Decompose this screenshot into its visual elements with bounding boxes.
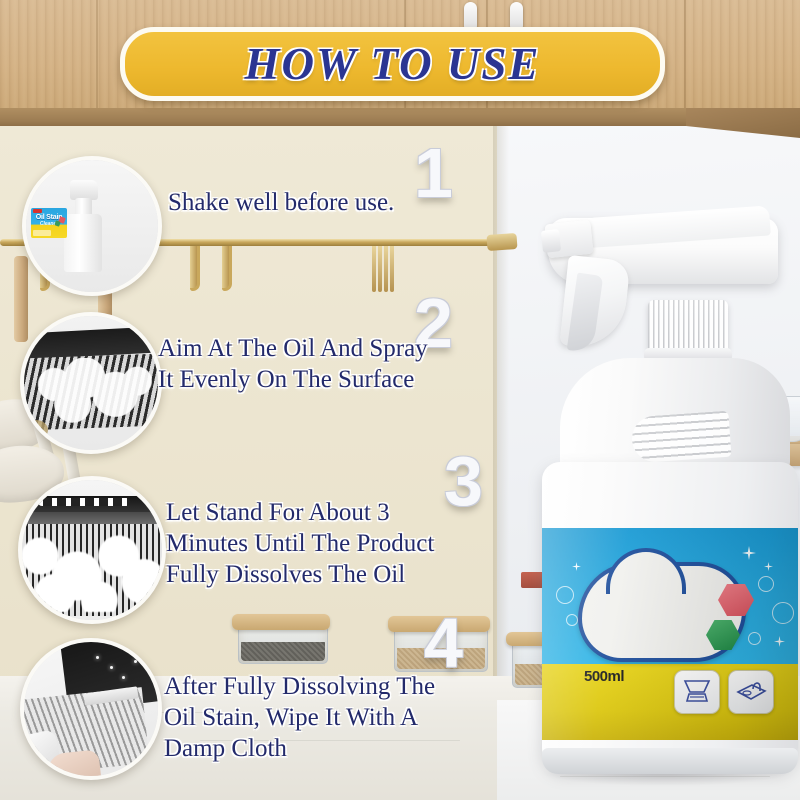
title-banner: HOW TO USE [120, 27, 665, 101]
nozzle-tip [541, 229, 561, 253]
step-number-4: 4 [424, 608, 463, 678]
step-thumbnail-wiping-with-damp-cloth [20, 638, 162, 780]
cabinet-seam [96, 0, 98, 122]
bamboo-lid [232, 614, 330, 630]
product-label: 500ml [542, 528, 798, 740]
cabinet-seam [684, 0, 686, 122]
step-thumbnail-foam-dissolving-oil [18, 476, 166, 624]
step-thumbnail-spray-bottle-on-counter: Oil Stain Cleaner [22, 156, 162, 296]
step-thumbnail-spraying-range-hood-filter [20, 312, 162, 454]
brass-rail-end-cap [486, 233, 517, 251]
step-text-3: Let Stand For About 3 Minutes Until The … [166, 498, 506, 590]
page-title: HOW TO USE [245, 38, 541, 90]
cabinet-bottom-edge [0, 108, 800, 126]
mini-product-label: Oil Stain Cleaner [31, 208, 67, 238]
step-text-1: Shake well before use. [168, 188, 498, 219]
step-text-4: After Fully Dissolving The Oil Stain, Wi… [164, 672, 504, 764]
label-gloss-overlay [542, 528, 798, 740]
bottle-shoulder-ribs [631, 411, 732, 464]
utensil-hook [222, 246, 232, 291]
utensil-hook-cluster [372, 246, 394, 294]
step-text-2: Aim At The Oil And Spray It Evenly On Th… [158, 334, 498, 396]
utensil-hook [190, 246, 200, 291]
bottle-base [542, 748, 798, 774]
how-to-use-infographic: HOW TO USE Oil Stain Cleaner [0, 0, 800, 800]
product-spray-bottle: 500ml [520, 200, 800, 790]
